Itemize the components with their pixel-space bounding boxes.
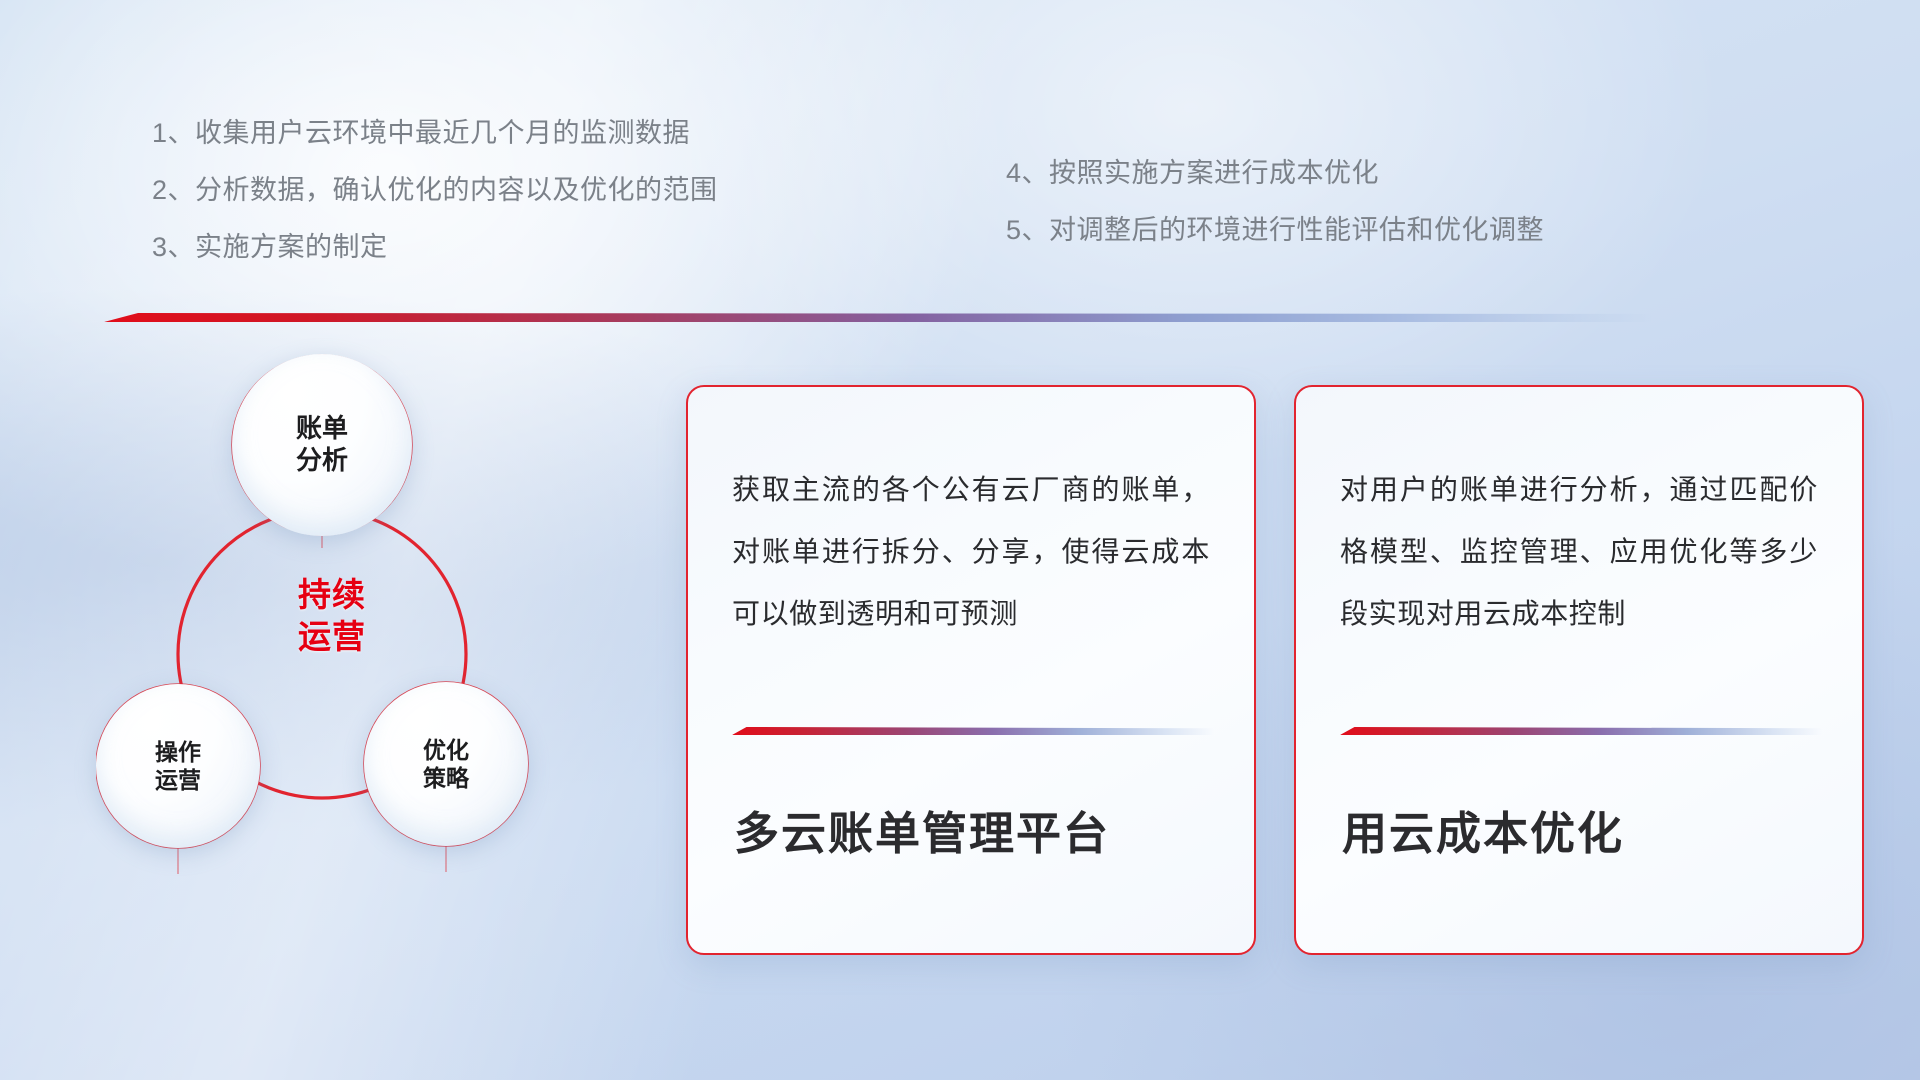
steps-right-column: 4、按照实施方案进行成本优化 5、对调整后的环境进行性能评估和优化调整 <box>1006 160 1544 274</box>
bubble-bill-analysis-line2: 分析 <box>296 445 348 477</box>
step-item-5: 5、对调整后的环境进行性能评估和优化调整 <box>1006 217 1544 244</box>
bubble-optimize-policy[interactable]: 优化 策略 <box>364 682 528 846</box>
card-cloud-cost-optimization[interactable]: 对用户的账单进行分析，通过匹配价格模型、监控管理、应用优化等多少段实现对用云成本… <box>1294 385 1864 955</box>
card-1-title: 多云账单管理平台 <box>734 797 1224 862</box>
card-2-title: 用云成本优化 <box>1342 797 1832 862</box>
bubble-operation-line1: 操作 <box>155 738 201 766</box>
bubble-bill-analysis[interactable]: 账单 分析 <box>232 354 412 536</box>
step-item-2: 2、分析数据，确认优化的内容以及优化的范围 <box>152 177 718 204</box>
section-divider-line <box>104 313 1652 322</box>
bubble-operation-line2: 运营 <box>155 766 201 794</box>
steps-left-column: 1、收集用户云环境中最近几个月的监测数据 2、分析数据，确认优化的内容以及优化的… <box>152 120 718 291</box>
card-2-body: 对用户的账单进行分析，通过匹配价格模型、监控管理、应用优化等多少段实现对用云成本… <box>1340 459 1818 645</box>
bubble-optimize-policy-line2: 策略 <box>423 764 469 792</box>
bubble-bill-analysis-line1: 账单 <box>296 413 348 445</box>
continuous-operation-diagram: 账单 分析 操作 运营 优化 策略 持续 运营 <box>96 352 616 962</box>
card-2-divider <box>1340 727 1822 735</box>
bubble-operation[interactable]: 操作 运营 <box>96 684 260 848</box>
diagram-center-label: 持续 运营 <box>252 574 412 658</box>
card-multi-cloud-bill-platform[interactable]: 获取主流的各个公有云厂商的账单，对账单进行拆分、分享，使得云成本可以做到透明和可… <box>686 385 1256 955</box>
bubble-optimize-policy-line1: 优化 <box>423 736 469 764</box>
step-item-4: 4、按照实施方案进行成本优化 <box>1006 160 1544 187</box>
card-1-divider <box>732 727 1214 735</box>
center-label-line1: 持续 <box>252 574 412 616</box>
center-label-line2: 运营 <box>252 616 412 658</box>
step-item-1: 1、收集用户云环境中最近几个月的监测数据 <box>152 120 718 147</box>
card-1-body: 获取主流的各个公有云厂商的账单，对账单进行拆分、分享，使得云成本可以做到透明和可… <box>732 459 1210 645</box>
slide-canvas: 1、收集用户云环境中最近几个月的监测数据 2、分析数据，确认优化的内容以及优化的… <box>0 0 1920 1080</box>
step-item-3: 3、实施方案的制定 <box>152 234 718 261</box>
